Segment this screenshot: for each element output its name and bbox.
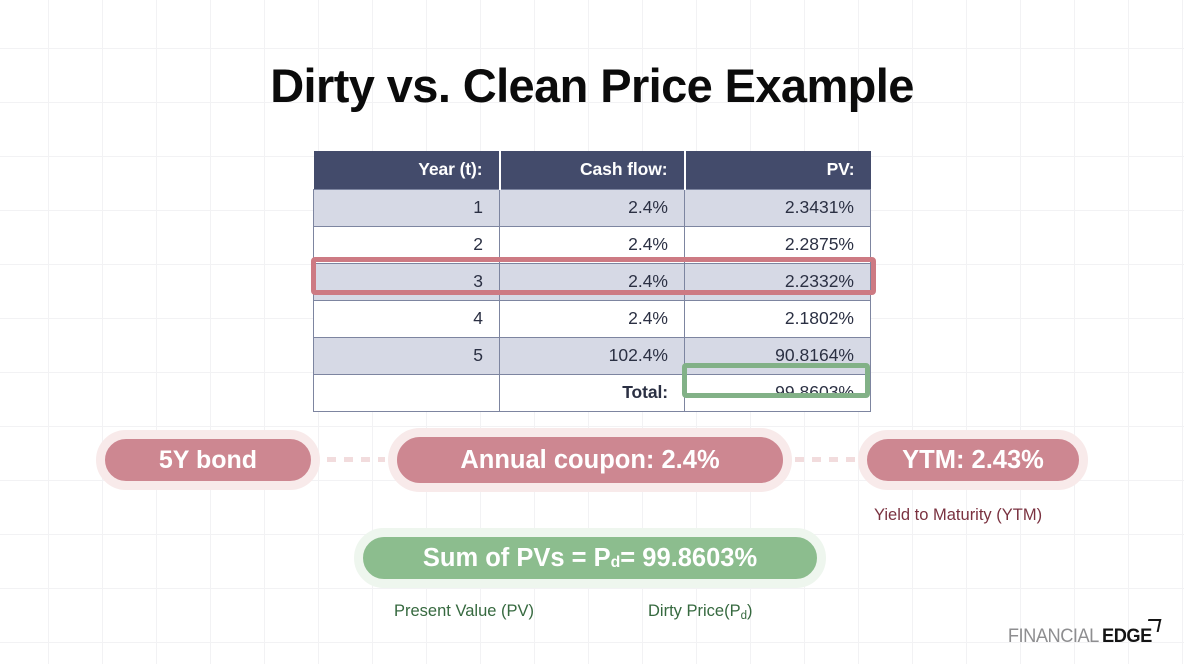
dirty-price-prefix: Dirty Price(P — [648, 602, 741, 620]
cell-year: 1 — [314, 190, 500, 227]
slide-canvas: Dirty vs. Clean Price Example Year (t): … — [0, 0, 1184, 664]
cell-pv: 2.3431% — [685, 190, 871, 227]
table-row: 1 2.4% 2.3431% — [314, 190, 871, 227]
pill-annual-coupon: Annual coupon: 2.4% — [388, 428, 792, 492]
column-header-year: Year (t): — [314, 151, 500, 190]
page-title: Dirty vs. Clean Price Example — [0, 58, 1184, 113]
logo-text-edge: EDGE — [1102, 626, 1152, 648]
logo-text-financial: FINANCIAL — [1008, 626, 1099, 648]
table-row-highlighted: 3 2.4% 2.2332% — [314, 264, 871, 301]
cell-year: 2 — [314, 227, 500, 264]
dotted-connector-right — [795, 457, 855, 462]
table-total-row: Total: 99.8603% — [314, 375, 871, 412]
cell-pv: 2.2875% — [685, 227, 871, 264]
cell-blank — [314, 375, 500, 412]
dotted-connector-left — [327, 457, 385, 462]
sum-label-prefix: Sum of PVs = P — [423, 544, 611, 573]
cell-year: 3 — [314, 264, 500, 301]
cell-total-label: Total: — [500, 375, 685, 412]
cell-pv: 2.2332% — [685, 264, 871, 301]
caption-present-value: Present Value (PV) — [394, 602, 534, 621]
pill-ytm: YTM: 2.43% — [858, 430, 1088, 490]
cell-cash-flow: 2.4% — [500, 227, 685, 264]
financial-edge-logo: FINANCIALEDGE — [1006, 626, 1153, 648]
table-row: 4 2.4% 2.1802% — [314, 301, 871, 338]
sum-label-suffix: = 99.8603% — [620, 544, 757, 573]
pv-table-container: Year (t): Cash flow: PV: 1 2.4% 2.3431% … — [313, 151, 870, 412]
cell-total-value: 99.8603% — [685, 375, 871, 412]
caption-yield-to-maturity: Yield to Maturity (YTM) — [874, 506, 1042, 525]
cell-pv: 2.1802% — [685, 301, 871, 338]
pill-5y-bond: 5Y bond — [96, 430, 320, 490]
cell-year: 4 — [314, 301, 500, 338]
cell-cash-flow: 2.4% — [500, 190, 685, 227]
cell-pv: 90.8164% — [685, 338, 871, 375]
cell-cash-flow: 102.4% — [500, 338, 685, 375]
cell-cash-flow: 2.4% — [500, 301, 685, 338]
column-header-cash-flow: Cash flow: — [500, 151, 685, 190]
table-header-row: Year (t): Cash flow: PV: — [314, 151, 871, 190]
table-row: 5 102.4% 90.8164% — [314, 338, 871, 375]
table-row: 2 2.4% 2.2875% — [314, 227, 871, 264]
pill-sum-of-pvs: Sum of PVs = Pd = 99.8603% — [354, 528, 826, 588]
caption-dirty-price: Dirty Price(Pd) — [648, 602, 753, 621]
logo-corner-mark-icon — [1145, 619, 1161, 632]
cell-cash-flow: 2.4% — [500, 264, 685, 301]
pv-table: Year (t): Cash flow: PV: 1 2.4% 2.3431% … — [313, 151, 871, 412]
dirty-price-subscript: d — [741, 610, 747, 622]
dirty-price-suffix: ) — [747, 602, 753, 620]
cell-year: 5 — [314, 338, 500, 375]
column-header-pv: PV: — [685, 151, 871, 190]
sum-label-subscript: d — [611, 554, 621, 572]
